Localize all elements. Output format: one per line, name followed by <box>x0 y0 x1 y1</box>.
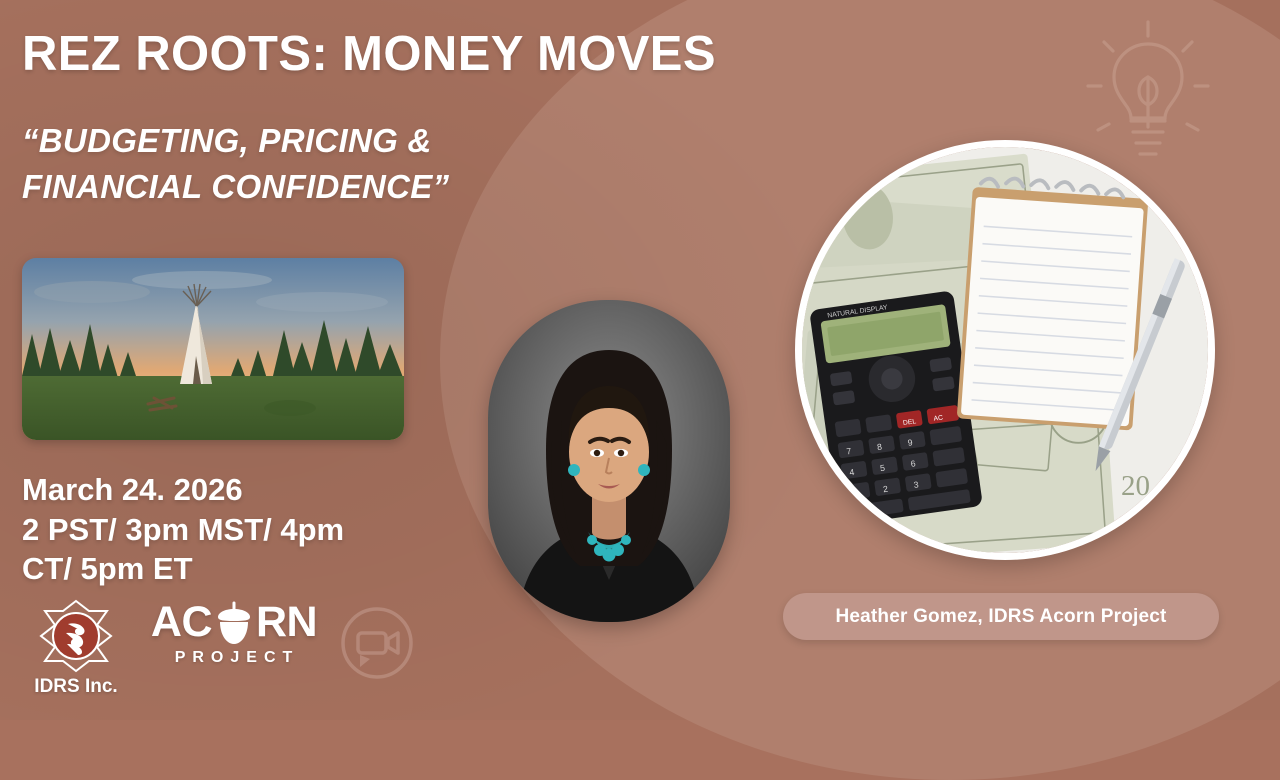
acorn-word-head: AC <box>151 601 212 644</box>
video-camera-chat-icon <box>336 605 418 687</box>
acorn-icon <box>215 601 253 647</box>
idrs-logo-text: IDRS Inc. <box>20 676 132 698</box>
page-title: REZ ROOTS: MONEY MOVES <box>22 26 716 82</box>
subtitle-line-2: FINANCIAL CONFIDENCE” <box>22 164 642 210</box>
speaker-name-badge: Heather Gomez, IDRS Acorn Project <box>783 593 1219 640</box>
teepee-at-sunset-photo <box>22 258 404 440</box>
acorn-word-tail: RN <box>256 601 317 644</box>
event-date: March 24. 2026 <box>22 470 452 510</box>
idrs-basket-logo-icon <box>29 597 123 675</box>
page-subtitle: “BUDGETING, PRICING & FINANCIAL CONFIDEN… <box>22 118 642 209</box>
acorn-project-logo: AC RN PROJECT <box>150 597 318 667</box>
calculator-notepad-cash-photo: 10 20 NATURAL DISPLAY <box>795 140 1215 560</box>
event-time-line-1: 2 PST/ 3pm MST/ 4pm <box>22 510 452 550</box>
subtitle-line-1: “BUDGETING, PRICING & <box>22 118 642 164</box>
logo-row: IDRS Inc. AC RN PROJECT <box>20 597 418 698</box>
svg-text:AC: AC <box>933 414 943 422</box>
idrs-logo: IDRS Inc. <box>20 597 132 698</box>
acorn-logo-subtitle: PROJECT <box>150 649 318 667</box>
event-datetime: March 24. 2026 2 PST/ 3pm MST/ 4pm CT/ 5… <box>22 470 452 589</box>
svg-text:20: 20 <box>1121 470 1150 502</box>
speaker-name-text: Heather Gomez, IDRS Acorn Project <box>835 606 1166 628</box>
speaker-headshot-photo <box>488 300 730 622</box>
event-time-line-2: CT/ 5pm ET <box>22 549 452 589</box>
